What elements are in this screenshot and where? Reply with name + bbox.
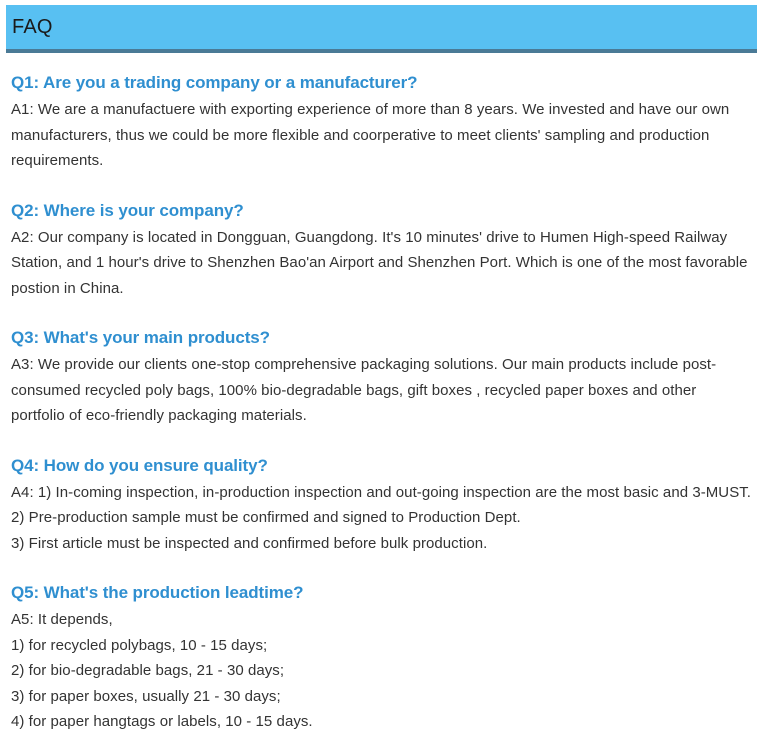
faq-list: Q1: Are you a trading company or a manuf… <box>11 70 753 735</box>
faq-answer-line: 2) for bio-degradable bags, 21 - 30 days… <box>11 658 753 684</box>
faq-question: Q5: What's the production leadtime? <box>11 580 753 605</box>
faq-item: Q4: How do you ensure quality?A4: 1) In-… <box>11 453 753 557</box>
faq-answer-line: A1: We are a manufactuere with exporting… <box>11 97 753 174</box>
faq-item: Q5: What's the production leadtime?A5: I… <box>11 580 753 735</box>
faq-question: Q3: What's your main products? <box>11 325 753 350</box>
faq-item: Q1: Are you a trading company or a manuf… <box>11 70 753 174</box>
faq-question: Q1: Are you a trading company or a manuf… <box>11 70 753 95</box>
faq-answer-line: 4) for paper hangtags or labels, 10 - 15… <box>11 709 753 735</box>
faq-answer: A4: 1) In-coming inspection, in-producti… <box>11 480 753 557</box>
faq-answer-line: 3) for paper boxes, usually 21 - 30 days… <box>11 684 753 710</box>
faq-answer-line: 1) for recycled polybags, 10 - 15 days; <box>11 633 753 659</box>
faq-question: Q4: How do you ensure quality? <box>11 453 753 478</box>
faq-answer-line: A5: It depends, <box>11 607 753 633</box>
faq-answer: A3: We provide our clients one-stop comp… <box>11 352 753 429</box>
faq-answer-line: 3) First article must be inspected and c… <box>11 531 753 557</box>
faq-answer-line: 2) Pre-production sample must be confirm… <box>11 505 753 531</box>
faq-question: Q2: Where is your company? <box>11 198 753 223</box>
faq-answer-line: A2: Our company is located in Dongguan, … <box>11 225 753 302</box>
faq-answer: A2: Our company is located in Dongguan, … <box>11 225 753 302</box>
faq-answer: A1: We are a manufactuere with exporting… <box>11 97 753 174</box>
faq-answer-line: A3: We provide our clients one-stop comp… <box>11 352 753 429</box>
faq-item: Q3: What's your main products?A3: We pro… <box>11 325 753 429</box>
faq-header-banner: FAQ <box>6 5 757 53</box>
page-title: FAQ <box>12 14 53 40</box>
faq-item: Q2: Where is your company?A2: Our compan… <box>11 198 753 302</box>
faq-answer: A5: It depends,1) for recycled polybags,… <box>11 607 753 735</box>
faq-answer-line: A4: 1) In-coming inspection, in-producti… <box>11 480 753 506</box>
faq-page: FAQ Q1: Are you a trading company or a m… <box>0 0 765 748</box>
